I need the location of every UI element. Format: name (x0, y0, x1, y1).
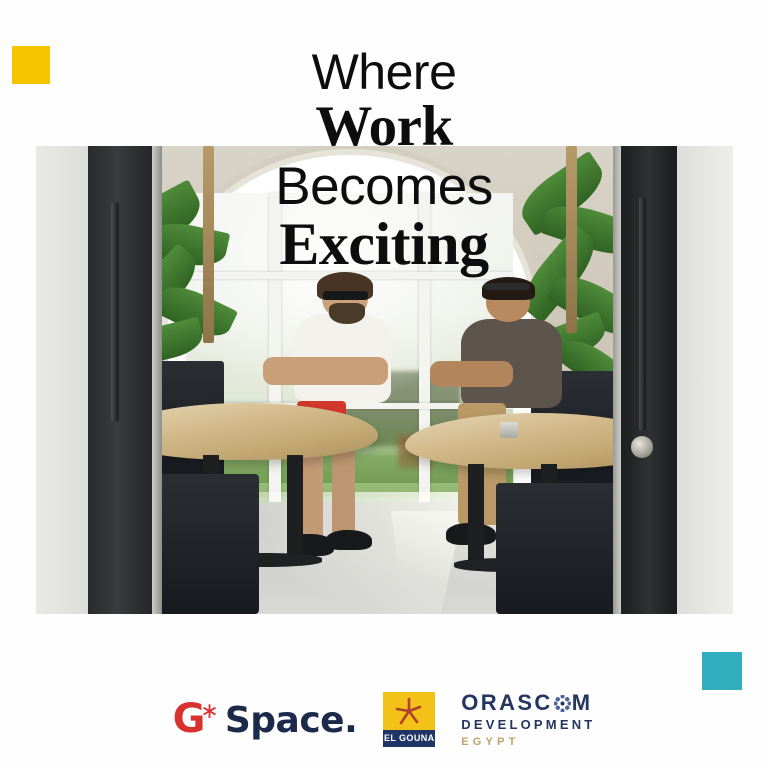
palm-trunk-left (203, 146, 214, 343)
orascom-text-tail: M (572, 691, 593, 716)
teal-accent-square (702, 652, 742, 690)
table-leg (468, 464, 484, 562)
poster-canvas: Where Work Becomes Exciting G ∗ Space. (0, 0, 768, 768)
elgouna-tile (383, 692, 435, 730)
wall-left (36, 146, 88, 614)
yellow-accent-square (12, 46, 50, 84)
gspace-logo: G ∗ Space. (173, 699, 358, 739)
person-right-sunglasses (484, 283, 530, 290)
window-mullion-vertical (419, 193, 430, 539)
door-right-handle (639, 197, 646, 431)
person-left-beard (329, 303, 365, 324)
cup-on-table (500, 422, 518, 438)
palm-trunk-right (566, 146, 577, 333)
starfish-icon (394, 696, 424, 726)
orascom-patterned-o-icon (554, 695, 571, 712)
elgouna-logo: EL GOUNA (383, 692, 435, 747)
logo-bar: G ∗ Space. EL GOUNA (0, 691, 768, 748)
door-right (621, 146, 677, 614)
hero-photo (36, 146, 733, 614)
gspace-wordmark: Space. (225, 703, 357, 739)
orascom-logo: ORASC M DEVELOPMENT EGYPT (461, 691, 595, 748)
door-right-knob (631, 436, 653, 458)
door-left-edge (152, 146, 162, 614)
gspace-star-icon: ∗ (200, 701, 218, 723)
orascom-development-label: DEVELOPMENT (461, 718, 595, 733)
wall-right (677, 146, 733, 614)
orascom-egypt-label: EGYPT (461, 736, 519, 748)
headline-line-1: Where (0, 48, 768, 97)
person-left-shoe (326, 530, 372, 551)
person-left-sunglasses (323, 291, 368, 300)
person-right-arm (430, 361, 514, 387)
door-left (88, 146, 154, 614)
orascom-text-head: ORASC (461, 691, 552, 716)
person-left-arms (263, 357, 388, 385)
door-left-handle (111, 202, 119, 422)
person-left-leg (332, 441, 354, 535)
table-leg (287, 455, 303, 558)
orascom-wordmark: ORASC M (461, 691, 592, 716)
elgouna-label: EL GOUNA (383, 730, 435, 747)
